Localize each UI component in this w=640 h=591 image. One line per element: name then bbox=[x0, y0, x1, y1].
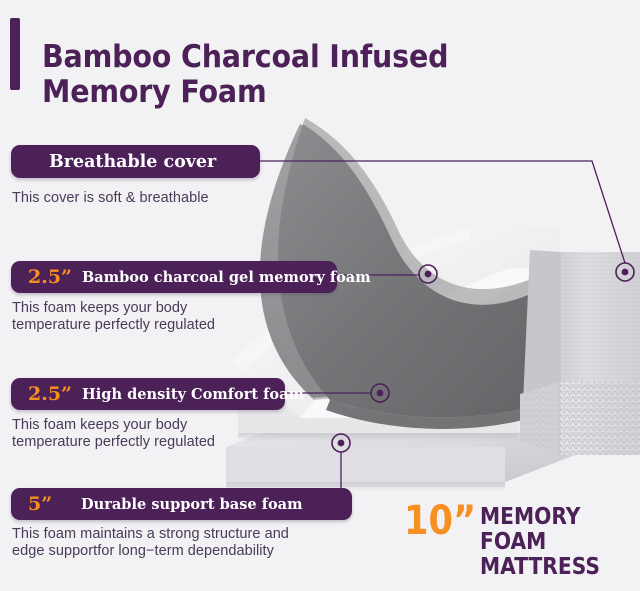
layer-badge-durable-support-base[interactable]: 5” Durable support base foam bbox=[11, 488, 352, 520]
layer-badge-bamboo-charcoal-gel[interactable]: 2.5” Bamboo charcoal gel memory foam bbox=[11, 261, 337, 293]
layer-badge-durable-support-base-label: Durable support base foam bbox=[81, 496, 302, 513]
infographic-canvas: Bamboo Charcoal Infused Memory Foam Brea… bbox=[0, 0, 640, 591]
layer-description-durable-support-base: This foam maintains a strong structure a… bbox=[12, 526, 372, 560]
layer-description-bamboo-charcoal-gel: This foam keeps your body temperature pe… bbox=[12, 300, 312, 334]
layer-measure-high-density-comfort: 2.5” bbox=[28, 385, 72, 404]
layer-description-high-density-comfort: This foam keeps your body temperature pe… bbox=[12, 417, 312, 451]
layer-measure-durable-support-base: 5” bbox=[28, 495, 52, 514]
layer-measure-bamboo-charcoal-gel: 2.5” bbox=[28, 268, 72, 287]
page-title: Bamboo Charcoal Infused Memory Foam bbox=[42, 40, 520, 110]
title-accent-bar bbox=[10, 18, 20, 90]
layer-badge-bamboo-charcoal-gel-label: Bamboo charcoal gel memory foam bbox=[82, 269, 371, 286]
layer-badge-cover-label: Breathable cover bbox=[49, 153, 216, 170]
product-name: MEMORY FOAM MATTRESS bbox=[480, 505, 617, 580]
layer-description-cover: This cover is soft & breathable bbox=[12, 190, 312, 207]
product-total-height: 10” bbox=[404, 503, 476, 539]
layer-badge-high-density-comfort-label: High density Comfort foam bbox=[82, 386, 304, 403]
layer-badge-high-density-comfort[interactable]: 2.5” High density Comfort foam bbox=[11, 378, 285, 410]
product-summary: 10” MEMORY FOAM MATTRESS bbox=[404, 503, 636, 580]
layer-badge-cover[interactable]: Breathable cover bbox=[11, 145, 260, 178]
